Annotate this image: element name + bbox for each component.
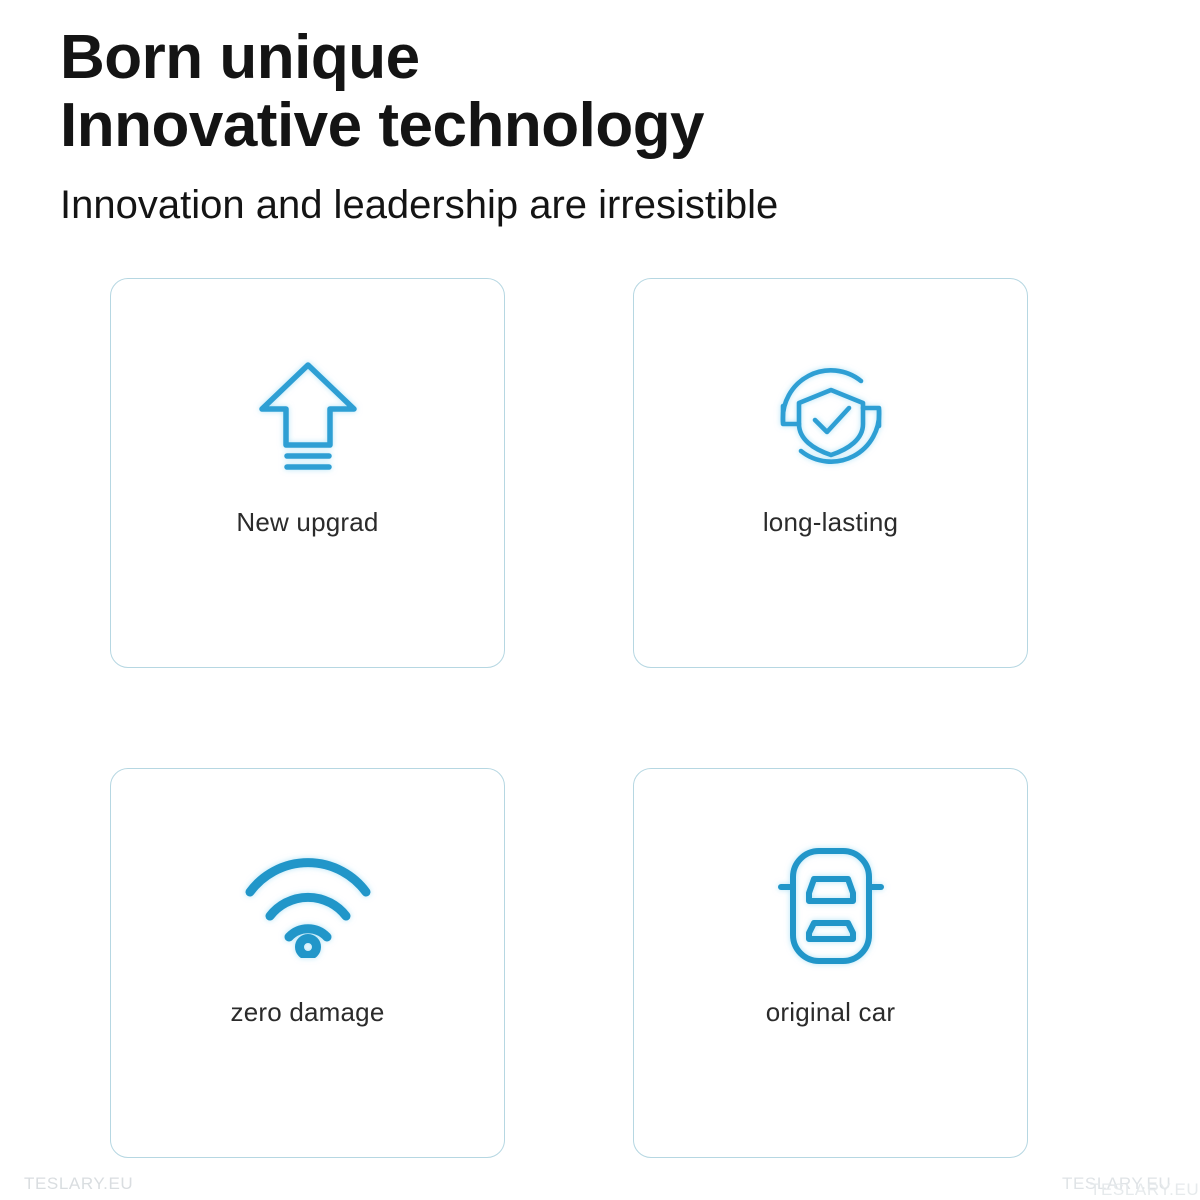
feature-card-zero-damage[interactable]: zero damage [110,768,505,1158]
card-label: original car [766,997,896,1028]
watermark-bottom-right-secondary: TESLARY.EU [1090,1180,1199,1200]
card-label: long-lasting [763,507,898,538]
car-top-view-icon [761,841,901,971]
card-content: original car [634,841,1027,1028]
feature-card-original-car[interactable]: original car [633,768,1028,1158]
shield-check-refresh-icon [761,351,901,481]
upgrade-arrow-icon [238,351,378,481]
card-label: New upgrad [236,507,378,538]
feature-card-grid: New upgrad [110,278,1028,1158]
feature-card-new-upgrad[interactable]: New upgrad [110,278,505,668]
card-label: zero damage [231,997,385,1028]
promo-page: Born unique Innovative technology Innova… [0,0,1200,1200]
heading-block: Born unique Innovative technology Innova… [60,24,1140,228]
page-subtitle: Innovation and leadership are irresistib… [60,182,1140,228]
card-content: long-lasting [634,351,1027,538]
page-title-line-1: Born unique [60,24,1140,92]
watermark-bottom-left: TESLARY.EU [24,1174,133,1194]
feature-card-long-lasting[interactable]: long-lasting [633,278,1028,668]
card-content: zero damage [111,841,504,1028]
card-content: New upgrad [111,351,504,538]
wifi-signal-icon [238,841,378,971]
page-title-line-2: Innovative technology [60,92,1140,160]
